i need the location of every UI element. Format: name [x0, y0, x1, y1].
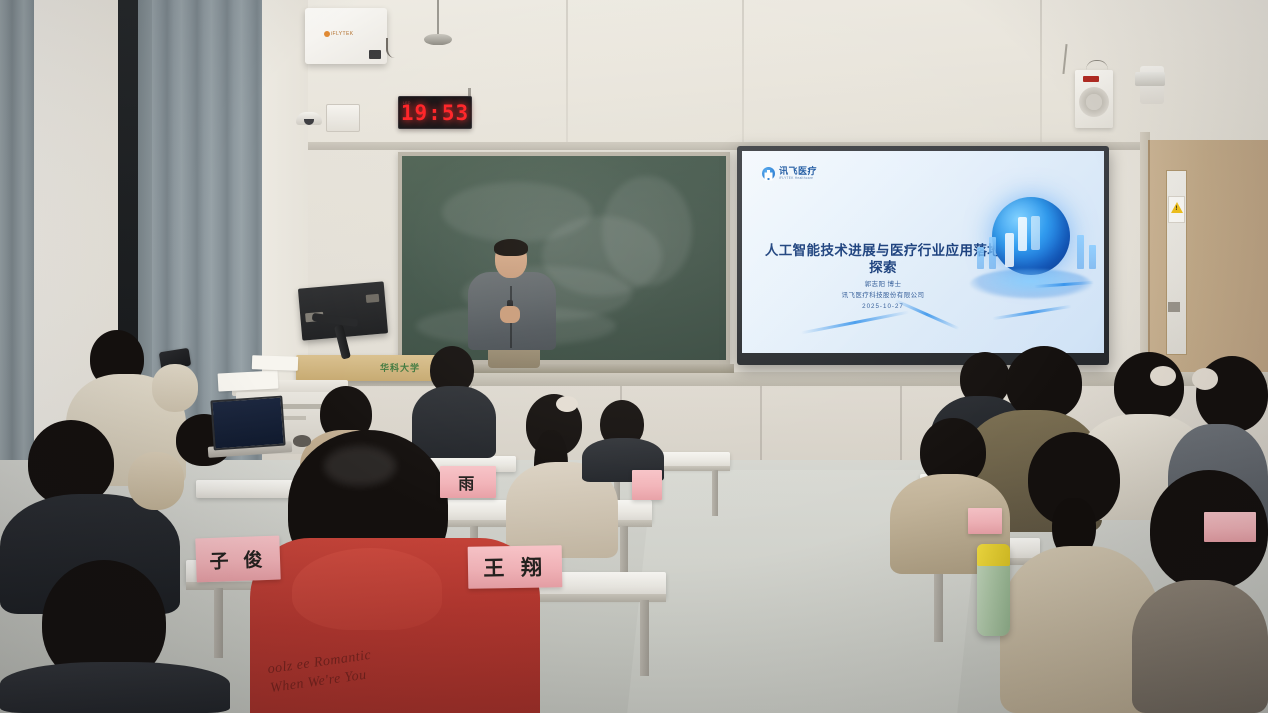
wall-seam — [1040, 0, 1042, 150]
desk-leg — [640, 600, 649, 676]
hoodie-hood — [292, 548, 442, 630]
wall-unit-cable — [386, 38, 402, 58]
brand-dot-icon — [324, 31, 330, 37]
presenter-hair — [494, 239, 528, 256]
desk-leg — [934, 564, 943, 642]
slide-organization: 讯飞医疗科技股份有限公司 — [758, 290, 1008, 301]
iflytek-logo-icon — [762, 167, 775, 180]
raised-arm — [128, 452, 184, 510]
hair-tie — [556, 396, 578, 412]
student-head — [1114, 352, 1184, 422]
bottle-cap — [977, 544, 1010, 566]
placard-text: 子 俊 — [209, 545, 267, 574]
slide-date: 2025-10-27 — [758, 302, 1008, 313]
slide-bar — [989, 237, 996, 269]
slide-globe-graphic — [992, 197, 1070, 275]
placard-partial — [968, 508, 1002, 534]
wall-seam — [742, 0, 744, 150]
dome-camera-icon — [296, 112, 322, 125]
mouse-icon — [293, 435, 311, 447]
presentation-slide: 讯飞医疗 iFLYTEK Healthcare 人工智能技术进展与医疗行业应用落… — [742, 151, 1104, 353]
hair-tie — [1192, 368, 1218, 390]
placard-text: 雨 — [458, 470, 478, 494]
slide-logo-cn: 讯飞医疗 — [779, 167, 817, 176]
wall-mounted-unit: iFLYTEK — [305, 8, 387, 64]
ceiling-mic-rod — [437, 0, 439, 36]
curtain-panel — [0, 0, 34, 460]
placard-yu: 雨 — [440, 466, 496, 498]
door-lower-plate — [1168, 302, 1180, 312]
led-wall-clock: LED 19:53 — [398, 96, 472, 129]
slide-bar — [1089, 245, 1096, 269]
slide-logo-en: iFLYTEK Healthcare — [779, 176, 817, 181]
clock-time: 19:53 — [401, 101, 469, 125]
warning-sign — [1168, 196, 1185, 223]
placard-partial — [1204, 512, 1256, 542]
wall-display[interactable]: 讯飞医疗 iFLYTEK Healthcare 人工智能技术进展与医疗行业应用落… — [737, 146, 1109, 365]
clock-brand: LED — [403, 101, 411, 105]
student-body — [0, 662, 230, 713]
slide-bar — [977, 247, 984, 269]
student-head — [1006, 346, 1082, 420]
wall-unit-brand: iFLYTEK — [331, 31, 353, 37]
slide-logo: 讯飞医疗 iFLYTEK Healthcare — [762, 167, 817, 181]
warning-triangle-icon — [1171, 202, 1183, 213]
desk-leg — [214, 588, 223, 658]
wall-speaker-icon — [1075, 70, 1113, 128]
hair-highlight — [324, 446, 396, 486]
placard-zijun: 子 俊 — [195, 536, 280, 583]
monitor-port — [366, 294, 380, 303]
laptop-screen[interactable] — [210, 396, 285, 451]
wall-unit-display — [369, 50, 381, 59]
blackboard-surface — [402, 156, 726, 360]
placard-partial — [632, 470, 662, 500]
slide-title: 人工智能技术进展与医疗行业应用落地探索 — [758, 243, 1008, 277]
placard-wangxiang: 王 翔 — [468, 545, 563, 589]
paper-sheet — [218, 370, 279, 391]
ceiling-microphone-icon — [424, 34, 452, 45]
speaker-grille — [1079, 87, 1109, 117]
student-body — [1132, 580, 1268, 713]
student-body — [412, 386, 496, 458]
hair-tie — [1150, 366, 1176, 386]
classroom-photo: 讯飞医疗 iFLYTEK Healthcare 人工智能技术进展与医疗行业应用落… — [0, 0, 1268, 713]
desk-leg — [712, 470, 718, 516]
wall-access-plate — [326, 104, 360, 132]
raised-arm — [152, 364, 198, 412]
security-camera-icon — [1135, 72, 1165, 86]
presenter-hands — [500, 306, 520, 323]
paper-sheet — [252, 355, 298, 371]
wall-seam — [566, 0, 568, 150]
placard-text: 王 翔 — [483, 551, 547, 582]
slide-streak — [801, 311, 910, 335]
slide-bar — [1077, 235, 1084, 269]
blackboard — [398, 152, 730, 364]
speaker-led — [1083, 76, 1099, 82]
